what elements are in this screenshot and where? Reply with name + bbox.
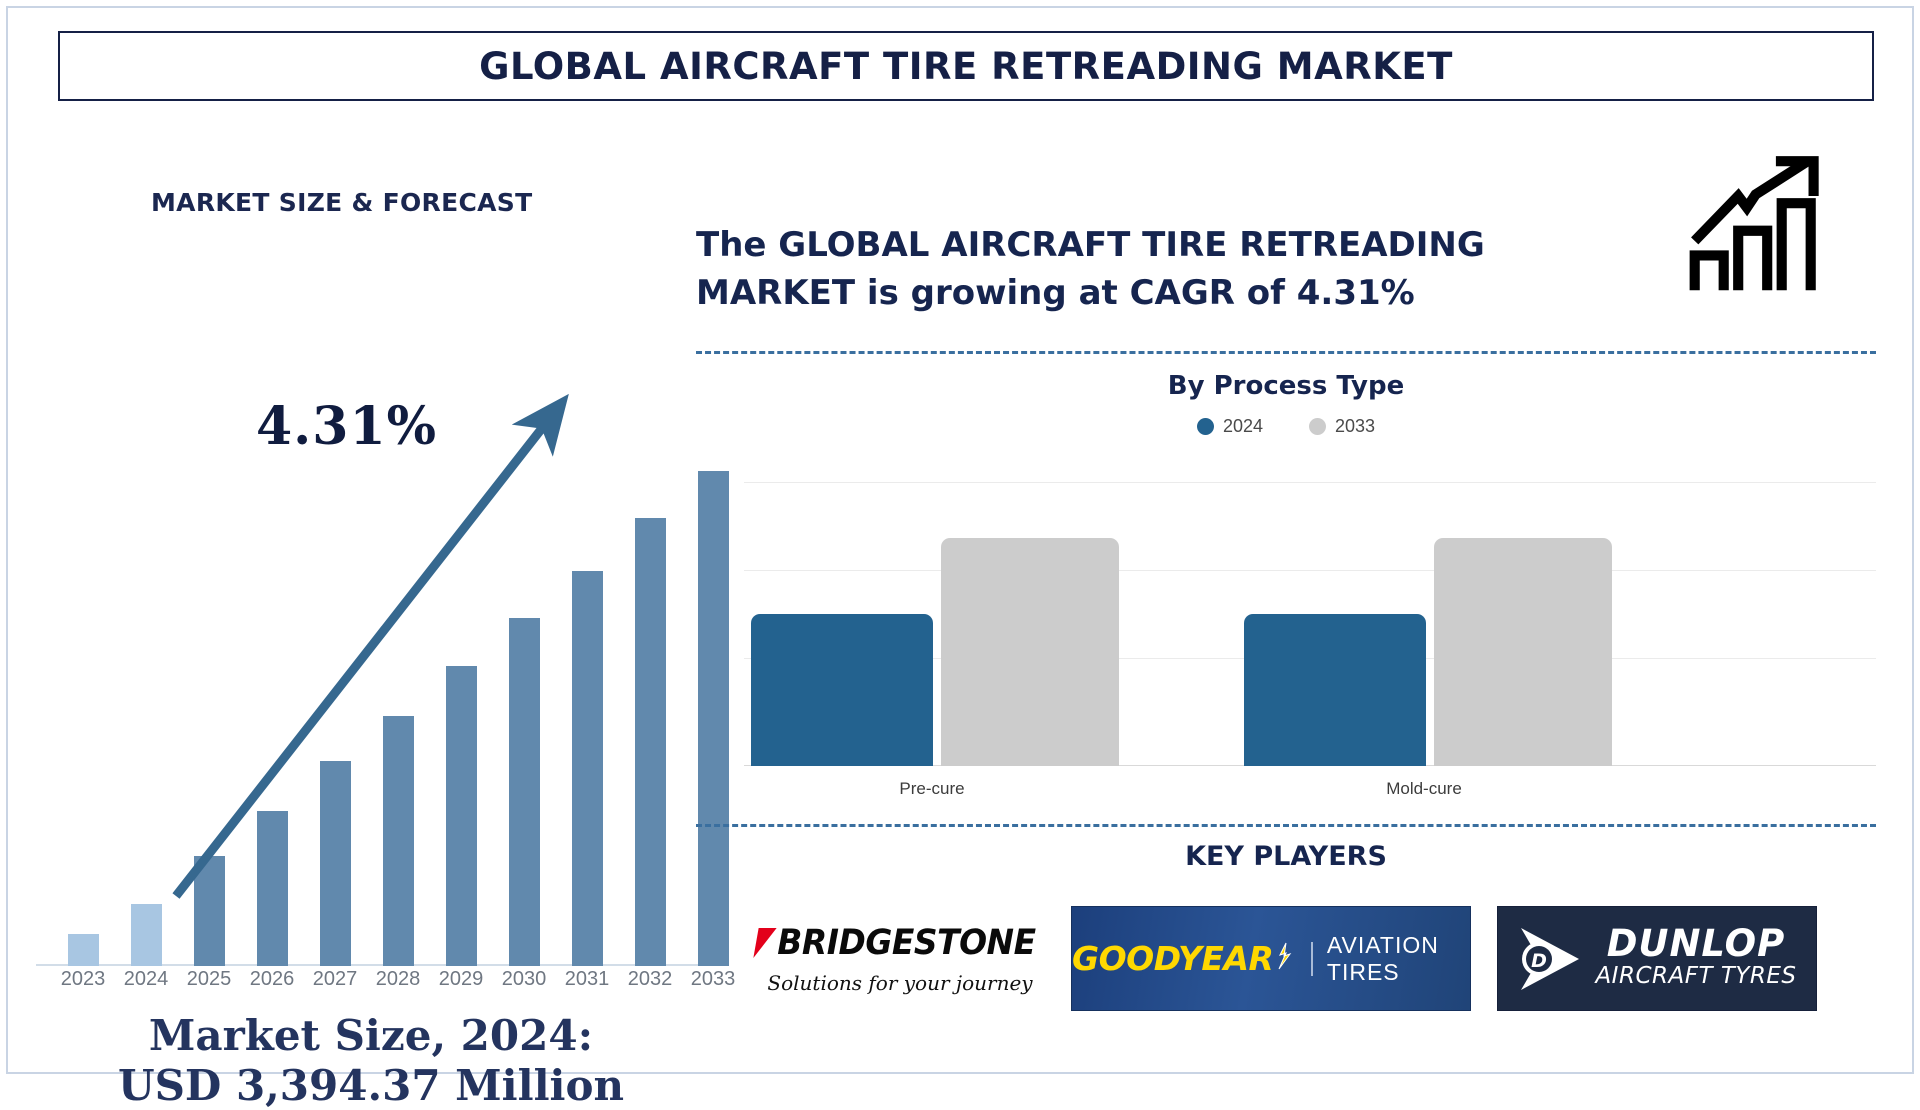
segment-chart-title: By Process Type bbox=[696, 371, 1876, 401]
forecast-bar bbox=[446, 666, 477, 966]
dunlop-tagline: AIRCRAFT TYRES bbox=[1595, 962, 1796, 992]
bar-pre-cure-2033 bbox=[941, 538, 1119, 766]
legend-label: 2033 bbox=[1335, 416, 1375, 437]
market-size-forecast-label: MARKET SIZE & FORECAST bbox=[151, 188, 532, 217]
axis-tick-label: 2031 bbox=[557, 968, 617, 991]
goodyear-divider bbox=[1311, 942, 1313, 976]
bridgestone-tagline: Solutions for your journey bbox=[767, 971, 1032, 995]
axis-tick-label: 2029 bbox=[431, 968, 491, 991]
forecast-bar-chart bbox=[26, 356, 726, 966]
infographic-page: GLOBAL AIRCRAFT TIRE RETREADING MARKET M… bbox=[0, 0, 1920, 1080]
bar-pre-cure-2024 bbox=[751, 614, 933, 766]
forecast-bar bbox=[635, 518, 666, 966]
legend-item-2024: 2024 bbox=[1197, 416, 1263, 437]
cagr-headline-line-2: MARKET is growing at CAGR of 4.31% bbox=[696, 269, 1686, 317]
legend-swatch-icon bbox=[1197, 418, 1214, 435]
market-size-value: Market Size, 2024: USD 3,394.37 Million bbox=[6, 1011, 736, 1110]
goodyear-logo[interactable]: GOODYEAR AVIATION TIRES bbox=[1071, 906, 1471, 1011]
legend-label: 2024 bbox=[1223, 416, 1263, 437]
axis-tick-label: 2028 bbox=[368, 968, 428, 991]
forecast-bar bbox=[68, 934, 99, 966]
gridline bbox=[744, 570, 1876, 571]
forecast-bar bbox=[383, 716, 414, 966]
forecast-bar bbox=[509, 618, 540, 966]
process-type-bar-chart: Pre-cure Mold-cure bbox=[744, 454, 1876, 819]
goodyear-wordmark: GOODYEAR bbox=[1072, 939, 1297, 978]
forecast-bar bbox=[194, 856, 225, 966]
segment-chart-legend: 2024 2033 bbox=[696, 416, 1876, 437]
forecast-bar bbox=[320, 761, 351, 966]
category-label-pre-cure: Pre-cure bbox=[842, 779, 1022, 799]
legend-item-2033: 2033 bbox=[1309, 416, 1375, 437]
forecast-year-axis: 2023 2024 2025 2026 2027 2028 2029 2030 … bbox=[26, 968, 726, 998]
divider-bottom bbox=[696, 824, 1876, 827]
cagr-headline: The GLOBAL AIRCRAFT TIRE RETREADING MARK… bbox=[696, 221, 1686, 318]
page-title-box: GLOBAL AIRCRAFT TIRE RETREADING MARKET bbox=[58, 31, 1874, 101]
market-size-line-1: Market Size, 2024: bbox=[6, 1011, 736, 1061]
axis-tick-label: 2027 bbox=[305, 968, 365, 991]
axis-tick-label: 2032 bbox=[620, 968, 680, 991]
divider-top bbox=[696, 351, 1876, 354]
growth-bar-chart-arrow-icon bbox=[1686, 146, 1831, 301]
goodyear-winged-foot-icon bbox=[1274, 942, 1296, 976]
axis-tick-label: 2026 bbox=[242, 968, 302, 991]
bar-mold-cure-2033 bbox=[1434, 538, 1612, 766]
bar-mold-cure-2024 bbox=[1244, 614, 1426, 766]
axis-tick-label: 2030 bbox=[494, 968, 554, 991]
goodyear-tagline: AVIATION TIRES bbox=[1327, 932, 1470, 986]
axis-tick-label: 2024 bbox=[116, 968, 176, 991]
axis-tick-label: 2025 bbox=[179, 968, 239, 991]
forecast-bar bbox=[131, 904, 162, 966]
dunlop-text-block: DUNLOP AIRCRAFT TYRES bbox=[1595, 925, 1796, 992]
bridgestone-wordmark-row: BRIDGESTONE bbox=[756, 923, 1044, 963]
key-players-logos: BRIDGESTONE Solutions for your journey G… bbox=[696, 896, 1876, 1021]
dunlop-d-icon: D bbox=[1517, 922, 1583, 996]
cagr-headline-line-1: The GLOBAL AIRCRAFT TIRE RETREADING bbox=[696, 221, 1686, 269]
dunlop-logo[interactable]: D DUNLOP AIRCRAFT TYRES bbox=[1497, 906, 1817, 1011]
key-players-title: KEY PLAYERS bbox=[696, 841, 1876, 872]
forecast-bar bbox=[572, 571, 603, 966]
axis-tick-label: 2023 bbox=[53, 968, 113, 991]
market-size-forecast-panel: MARKET SIZE & FORECAST 4.31% bbox=[6, 106, 736, 1081]
bridgestone-logo[interactable]: BRIDGESTONE Solutions for your journey bbox=[755, 899, 1045, 1019]
market-size-line-2: USD 3,394.37 Million bbox=[6, 1061, 736, 1110]
legend-swatch-icon bbox=[1309, 418, 1326, 435]
bridgestone-flag-icon bbox=[753, 928, 776, 958]
svg-text:D: D bbox=[1532, 950, 1548, 972]
bridgestone-wordmark: BRIDGESTONE bbox=[777, 923, 1035, 963]
goodyear-wordmark-text: GOODYEAR bbox=[1072, 939, 1273, 978]
segment-and-players-panel: The GLOBAL AIRCRAFT TIRE RETREADING MARK… bbox=[696, 106, 1920, 1081]
page-title: GLOBAL AIRCRAFT TIRE RETREADING MARKET bbox=[479, 45, 1453, 88]
dunlop-wordmark: DUNLOP bbox=[1607, 925, 1786, 962]
category-label-mold-cure: Mold-cure bbox=[1334, 779, 1514, 799]
gridline bbox=[744, 482, 1876, 483]
forecast-bar bbox=[257, 811, 288, 966]
